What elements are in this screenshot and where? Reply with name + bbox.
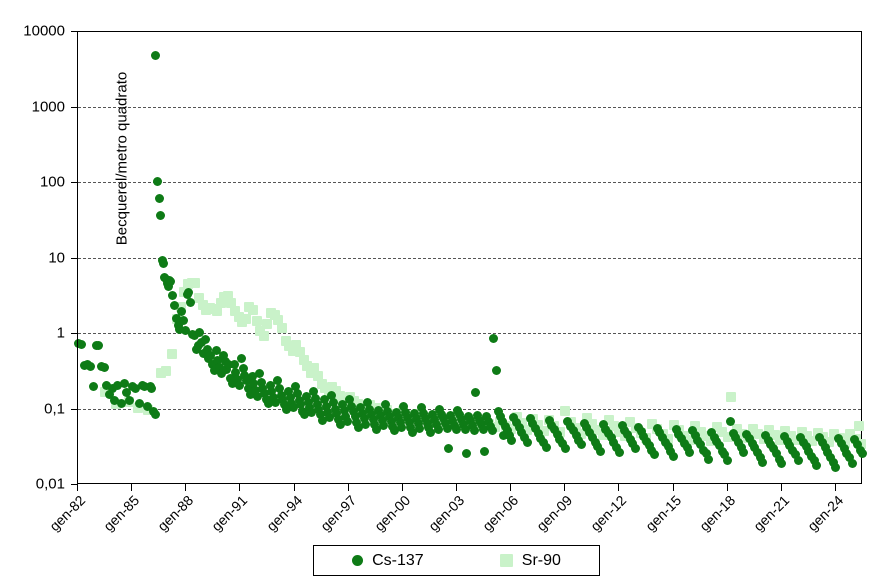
data-point-cs137 <box>183 290 192 299</box>
data-point-sr90 <box>555 427 565 437</box>
data-point-cs137 <box>172 314 181 323</box>
data-point-cs137 <box>155 194 164 203</box>
data-point-cs137 <box>577 440 586 449</box>
data-point-cs137 <box>435 405 444 414</box>
data-point-cs137 <box>520 433 529 442</box>
data-point-cs137 <box>423 419 432 428</box>
data-point-cs137 <box>553 430 562 439</box>
data-point-cs137 <box>300 410 309 419</box>
data-point-cs137 <box>415 424 424 433</box>
data-point-cs137 <box>199 349 208 358</box>
data-point-cs137 <box>358 409 367 418</box>
data-point-cs137 <box>515 423 524 432</box>
data-point-cs137 <box>777 459 786 468</box>
data-point-sr90 <box>302 361 312 371</box>
x-tick-mark <box>131 484 132 491</box>
data-point-cs137 <box>334 415 343 424</box>
data-point-sr90 <box>726 392 736 402</box>
data-point-cs137 <box>526 414 535 423</box>
data-point-sr90 <box>490 422 500 432</box>
data-point-cs137 <box>729 429 738 438</box>
data-point-cs137 <box>192 345 201 354</box>
data-point-cs137 <box>143 402 152 411</box>
data-point-cs137 <box>853 440 862 449</box>
data-point-sr90 <box>409 414 419 424</box>
data-point-sr90 <box>748 424 758 434</box>
data-point-sr90 <box>641 433 651 443</box>
data-point-sr90 <box>382 405 392 415</box>
data-point-cs137 <box>639 432 648 441</box>
data-point-cs137 <box>672 425 681 434</box>
data-point-sr90 <box>205 303 215 313</box>
data-point-cs137 <box>174 321 183 330</box>
data-point-cs137 <box>318 416 327 425</box>
data-point-cs137 <box>856 446 865 455</box>
data-point-sr90 <box>658 429 668 439</box>
data-point-cs137 <box>742 430 751 439</box>
data-point-cs137 <box>707 428 716 437</box>
data-point-cs137 <box>293 389 302 398</box>
data-point-cs137 <box>347 402 356 411</box>
data-point-cs137 <box>307 408 316 417</box>
data-point-cs137 <box>226 374 235 383</box>
gridline <box>78 258 861 259</box>
x-tick-mark <box>781 484 782 491</box>
data-point-cs137 <box>858 449 867 458</box>
data-point-cs137 <box>399 402 408 411</box>
data-point-sr90 <box>652 424 662 434</box>
data-point-cs137 <box>499 431 508 440</box>
data-point-cs137 <box>360 414 369 423</box>
data-point-cs137 <box>432 420 441 429</box>
data-point-cs137 <box>531 424 540 433</box>
x-tick-mark <box>239 484 240 491</box>
data-point-cs137 <box>240 371 249 380</box>
data-point-cs137 <box>685 448 694 457</box>
data-point-cs137 <box>462 449 471 458</box>
data-point-sr90 <box>625 417 635 427</box>
data-point-cs137 <box>783 437 792 446</box>
data-point-sr90 <box>320 383 330 393</box>
data-point-cs137 <box>287 399 296 408</box>
data-point-cs137 <box>496 412 505 421</box>
data-point-cs137 <box>748 439 757 448</box>
data-point-sr90 <box>156 368 166 378</box>
data-point-cs137 <box>834 434 843 443</box>
data-point-cs137 <box>278 395 287 404</box>
data-point-cs137 <box>237 354 246 363</box>
data-point-cs137 <box>452 425 461 434</box>
x-tick-mark <box>77 484 78 491</box>
data-point-cs137 <box>720 450 729 459</box>
data-point-sr90 <box>690 421 700 431</box>
data-point-sr90 <box>732 424 742 434</box>
data-point-sr90 <box>353 399 363 409</box>
x-tick-mark <box>510 484 511 491</box>
data-point-cs137 <box>712 437 721 446</box>
data-point-cs137 <box>775 455 784 464</box>
data-point-cs137 <box>693 436 702 445</box>
data-point-sr90 <box>474 421 484 431</box>
data-point-cs137 <box>829 458 838 467</box>
data-point-cs137 <box>691 431 700 440</box>
data-point-sr90 <box>764 425 774 435</box>
data-point-cs137 <box>83 360 92 369</box>
data-point-cs137 <box>181 326 190 335</box>
data-point-cs137 <box>122 388 131 397</box>
data-point-cs137 <box>455 410 464 419</box>
data-point-cs137 <box>468 421 477 430</box>
data-point-sr90 <box>124 397 134 407</box>
data-point-cs137 <box>128 382 137 391</box>
data-point-sr90 <box>234 312 244 322</box>
data-point-cs137 <box>125 396 134 405</box>
data-point-cs137 <box>228 379 237 388</box>
data-point-cs137 <box>269 393 278 402</box>
data-point-cs137 <box>471 388 480 397</box>
data-point-cs137 <box>572 431 581 440</box>
data-point-sr90 <box>807 436 817 446</box>
data-point-sr90 <box>835 433 845 443</box>
data-point-cs137 <box>837 439 846 448</box>
data-point-cs137 <box>273 376 282 385</box>
data-point-sr90 <box>802 431 812 441</box>
data-point-sr90 <box>786 431 796 441</box>
data-point-cs137 <box>406 423 415 432</box>
data-point-cs137 <box>219 351 228 360</box>
data-point-cs137 <box>244 384 253 393</box>
data-point-cs137 <box>702 449 711 458</box>
data-point-sr90 <box>797 427 807 437</box>
data-point-cs137 <box>372 425 381 434</box>
data-point-cs137 <box>799 438 808 447</box>
data-point-sr90 <box>479 416 489 426</box>
data-point-cs137 <box>345 395 354 404</box>
data-point-sr90 <box>167 349 177 359</box>
data-point-cs137 <box>314 405 323 414</box>
data-point-cs137 <box>197 338 206 347</box>
data-point-cs137 <box>251 386 260 395</box>
data-point-sr90 <box>248 305 258 315</box>
data-point-sr90 <box>549 421 559 431</box>
y-tick-label: 0,1 <box>0 400 65 417</box>
data-point-cs137 <box>734 438 743 447</box>
data-point-cs137 <box>794 456 803 465</box>
data-point-cs137 <box>642 437 651 446</box>
data-point-cs137 <box>105 390 114 399</box>
data-point-cs137 <box>329 398 338 407</box>
data-point-sr90 <box>327 382 337 392</box>
data-point-sr90 <box>255 326 265 336</box>
data-point-cs137 <box>320 395 329 404</box>
data-point-cs137 <box>387 417 396 426</box>
data-point-cs137 <box>222 365 231 374</box>
data-point-sr90 <box>463 414 473 424</box>
data-point-cs137 <box>212 346 221 355</box>
data-point-cs137 <box>591 438 600 447</box>
data-point-cs137 <box>647 446 656 455</box>
data-point-sr90 <box>331 386 341 396</box>
data-point-cs137 <box>477 420 486 429</box>
y-axis-title: Becquerel/metro quadrato <box>114 29 131 289</box>
data-point-cs137 <box>302 392 311 401</box>
data-point-cs137 <box>480 447 489 456</box>
data-point-sr90 <box>604 415 614 425</box>
data-point-cs137 <box>365 405 374 414</box>
data-point-cs137 <box>421 414 430 423</box>
data-point-cs137 <box>718 447 727 456</box>
data-point-cs137 <box>253 392 262 401</box>
chart-legend: Cs-137 Sr-90 <box>313 545 600 576</box>
gridline <box>78 107 861 108</box>
y-tick-label: 10000 <box>0 23 65 40</box>
data-point-cs137 <box>177 307 186 316</box>
data-point-cs137 <box>848 459 857 468</box>
data-point-cs137 <box>545 416 554 425</box>
data-point-cs137 <box>230 360 239 369</box>
data-point-cs137 <box>498 417 507 426</box>
y-tick-mark <box>71 258 77 259</box>
gridline <box>78 333 861 334</box>
data-point-cs137 <box>363 398 372 407</box>
data-point-sr90 <box>743 433 753 443</box>
data-point-sr90 <box>447 413 457 423</box>
data-point-sr90 <box>829 429 839 439</box>
data-point-cs137 <box>430 415 439 424</box>
data-point-cs137 <box>628 439 637 448</box>
data-point-cs137 <box>796 433 805 442</box>
data-point-cs137 <box>135 399 144 408</box>
data-point-cs137 <box>769 444 778 453</box>
data-point-cs137 <box>772 449 781 458</box>
data-point-cs137 <box>791 450 800 459</box>
data-point-cs137 <box>179 316 188 325</box>
data-point-cs137 <box>325 413 334 422</box>
data-point-sr90 <box>506 424 516 434</box>
data-point-cs137 <box>758 458 767 467</box>
data-point-cs137 <box>275 384 284 393</box>
data-point-sr90 <box>223 291 233 301</box>
data-point-cs137 <box>815 433 824 442</box>
data-point-cs137 <box>282 405 291 414</box>
data-point-sr90 <box>566 417 576 427</box>
data-point-cs137 <box>258 384 267 393</box>
data-point-sr90 <box>533 420 543 430</box>
data-point-sr90 <box>317 379 327 389</box>
data-point-cs137 <box>108 384 117 393</box>
data-point-sr90 <box>712 422 722 432</box>
data-point-cs137 <box>756 453 765 462</box>
data-point-cs137 <box>653 424 662 433</box>
data-point-sr90 <box>143 405 153 415</box>
data-point-sr90 <box>791 435 801 445</box>
data-point-cs137 <box>723 456 732 465</box>
data-point-cs137 <box>457 415 466 424</box>
y-tick-mark <box>71 333 77 334</box>
data-point-sr90 <box>457 420 467 430</box>
data-point-cs137 <box>840 444 849 453</box>
data-point-sr90 <box>172 314 182 324</box>
data-point-sr90 <box>587 419 597 429</box>
data-point-cs137 <box>826 453 835 462</box>
data-point-cs137 <box>464 412 473 421</box>
data-point-cs137 <box>201 335 210 344</box>
data-point-sr90 <box>270 310 280 320</box>
data-point-sr90 <box>856 439 866 449</box>
data-point-sr90 <box>349 396 359 406</box>
data-point-cs137 <box>612 443 621 452</box>
data-point-cs137 <box>331 405 340 414</box>
data-point-sr90 <box>299 355 309 365</box>
data-point-cs137 <box>97 362 106 371</box>
data-point-cs137 <box>221 357 230 366</box>
data-point-sr90 <box>111 399 121 409</box>
data-point-cs137 <box>396 418 405 427</box>
data-point-cs137 <box>113 381 122 390</box>
legend-label-cs137: Cs-137 <box>372 552 424 570</box>
data-point-sr90 <box>345 392 355 402</box>
data-point-sr90 <box>187 278 197 288</box>
data-point-sr90 <box>324 389 334 399</box>
data-point-cs137 <box>503 426 512 435</box>
data-point-cs137 <box>260 389 269 398</box>
data-point-cs137 <box>488 426 497 435</box>
data-point-cs137 <box>80 361 89 370</box>
data-point-sr90 <box>770 430 780 440</box>
data-point-cs137 <box>249 379 258 388</box>
data-point-sr90 <box>419 413 429 423</box>
data-point-sr90 <box>582 413 592 423</box>
y-axis-line <box>77 31 78 484</box>
data-point-cs137 <box>341 412 350 421</box>
data-point-cs137 <box>239 364 248 373</box>
data-point-cs137 <box>580 419 589 428</box>
data-point-cs137 <box>536 434 545 443</box>
data-point-cs137 <box>100 363 109 372</box>
data-point-cs137 <box>405 418 414 427</box>
data-point-sr90 <box>663 434 673 444</box>
data-point-sr90 <box>614 427 624 437</box>
data-point-sr90 <box>212 306 222 316</box>
data-point-cs137 <box>666 447 675 456</box>
data-point-cs137 <box>443 424 452 433</box>
data-point-cs137 <box>850 435 859 444</box>
data-point-cs137 <box>242 376 251 385</box>
y-tick-label: 10 <box>0 249 65 266</box>
data-point-cs137 <box>655 428 664 437</box>
data-point-cs137 <box>110 396 119 405</box>
data-point-sr90 <box>309 363 319 373</box>
data-point-sr90 <box>403 410 413 420</box>
data-point-cs137 <box>408 428 417 437</box>
data-point-cs137 <box>322 402 331 411</box>
data-point-cs137 <box>352 418 361 427</box>
data-point-cs137 <box>517 428 526 437</box>
y-tick-mark <box>71 31 77 32</box>
data-point-cs137 <box>439 414 448 423</box>
data-point-sr90 <box>753 429 763 439</box>
data-point-cs137 <box>309 387 318 396</box>
data-point-cs137 <box>233 375 242 384</box>
data-point-cs137 <box>569 426 578 435</box>
data-point-cs137 <box>378 416 387 425</box>
data-point-cs137 <box>582 423 591 432</box>
data-point-cs137 <box>351 412 360 421</box>
y-tick-label: 0,01 <box>0 476 65 493</box>
data-point-cs137 <box>231 368 240 377</box>
data-point-sr90 <box>190 278 200 288</box>
data-point-cs137 <box>812 461 821 470</box>
data-point-sr90 <box>706 436 716 446</box>
data-point-cs137 <box>461 425 470 434</box>
data-point-cs137 <box>788 446 797 455</box>
data-point-sr90 <box>674 425 684 435</box>
data-point-cs137 <box>831 463 840 472</box>
data-point-cs137 <box>750 443 759 452</box>
data-point-cs137 <box>162 275 171 284</box>
data-point-cs137 <box>295 396 304 405</box>
data-point-cs137 <box>434 425 443 434</box>
data-point-cs137 <box>634 423 643 432</box>
data-point-cs137 <box>224 360 233 369</box>
legend-item-sr90: Sr-90 <box>500 552 561 570</box>
data-point-cs137 <box>807 452 816 461</box>
gridline <box>78 182 861 183</box>
data-point-sr90 <box>851 434 861 444</box>
data-point-cs137 <box>574 436 583 445</box>
data-point-cs137 <box>669 452 678 461</box>
sr90-marker-icon <box>500 554 513 567</box>
data-point-cs137 <box>596 447 605 456</box>
data-point-sr90 <box>517 418 527 428</box>
data-point-cs137 <box>147 384 156 393</box>
data-point-cs137 <box>374 406 383 415</box>
data-point-cs137 <box>89 382 98 391</box>
data-point-cs137 <box>507 436 516 445</box>
data-point-sr90 <box>647 419 657 429</box>
data-point-sr90 <box>183 279 193 289</box>
data-point-cs137 <box>547 421 556 430</box>
data-point-cs137 <box>450 421 459 430</box>
data-point-sr90 <box>244 302 254 312</box>
data-point-cs137 <box>403 413 412 422</box>
data-point-cs137 <box>446 411 455 420</box>
y-tick-mark <box>71 409 77 410</box>
data-point-cs137 <box>542 443 551 452</box>
data-point-cs137 <box>607 433 616 442</box>
x-tick-mark <box>294 484 295 491</box>
data-point-sr90 <box>237 317 247 327</box>
x-tick-mark <box>185 484 186 491</box>
data-point-cs137 <box>327 391 336 400</box>
data-point-cs137 <box>780 432 789 441</box>
data-point-sr90 <box>737 429 747 439</box>
data-point-cs137 <box>739 448 748 457</box>
data-point-cs137 <box>248 372 257 381</box>
data-point-sr90 <box>593 425 603 435</box>
data-point-sr90 <box>685 435 695 445</box>
data-point-cs137 <box>412 414 421 423</box>
data-point-cs137 <box>489 334 498 343</box>
data-point-sr90 <box>277 323 287 333</box>
data-point-cs137 <box>566 422 575 431</box>
data-point-cs137 <box>156 211 165 220</box>
data-point-sr90 <box>291 340 301 350</box>
x-tick-mark <box>348 484 349 491</box>
data-point-cs137 <box>151 410 160 419</box>
data-point-cs137 <box>388 422 397 431</box>
data-point-cs137 <box>255 369 264 378</box>
